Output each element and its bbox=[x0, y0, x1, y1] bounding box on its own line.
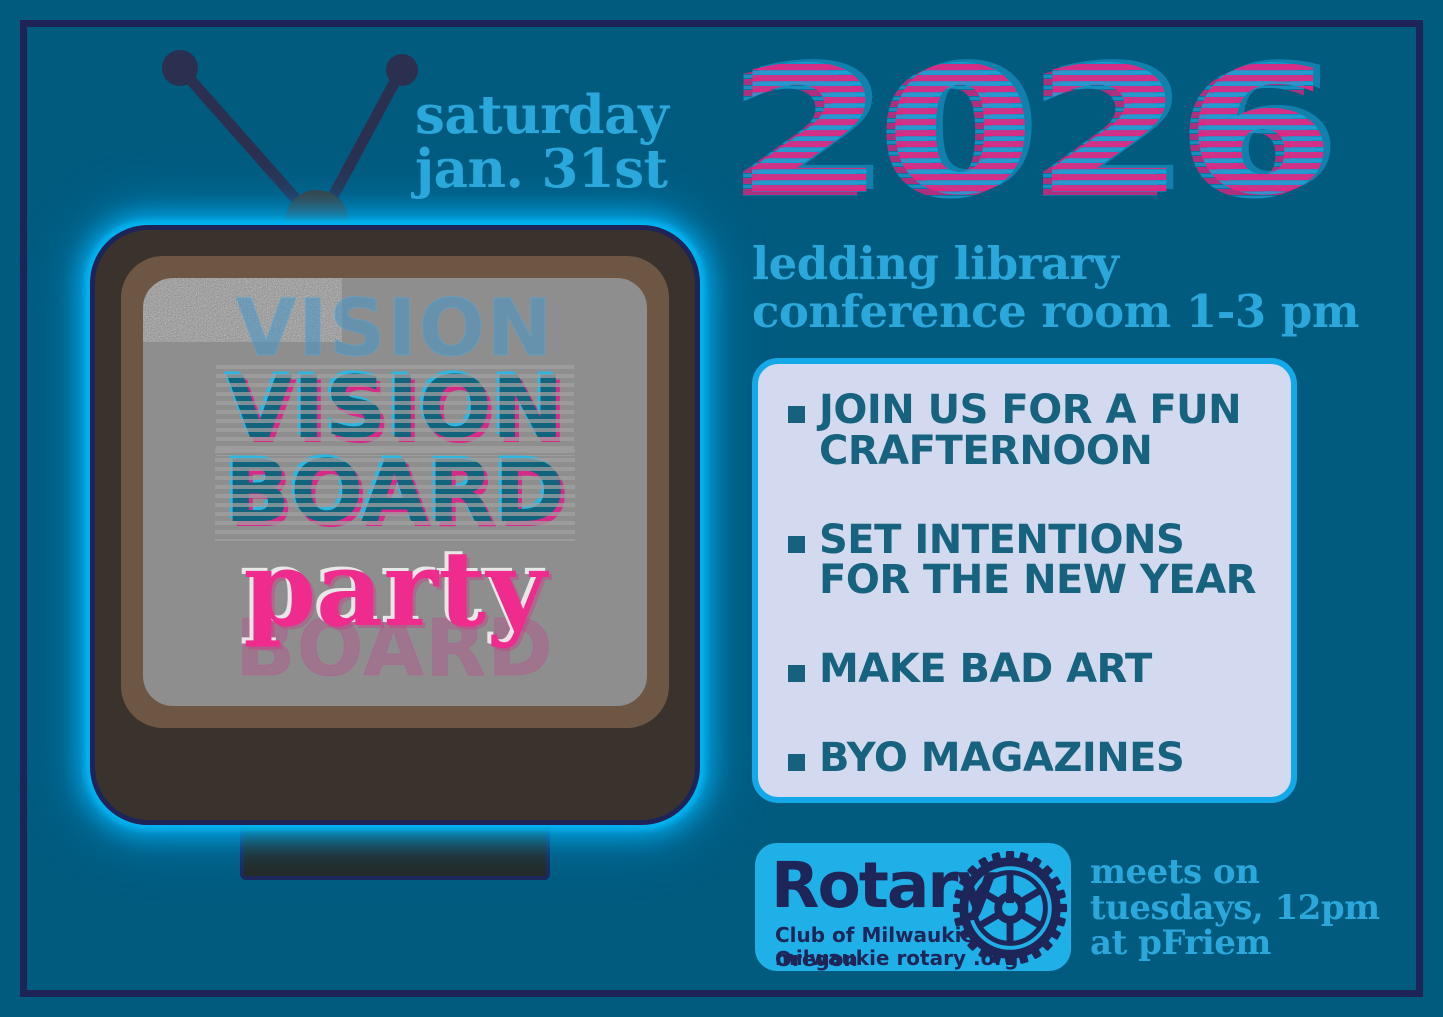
square-bullet-icon bbox=[788, 406, 805, 423]
poster-canvas: VISION BOARD VISION BOARD party saturday… bbox=[0, 0, 1443, 1017]
meeting-line3: at pFriem bbox=[1090, 926, 1380, 962]
square-bullet-icon bbox=[788, 536, 805, 553]
ghost-text-vision: VISION bbox=[236, 292, 554, 366]
meeting-info: meets on tuesdays, 12pm at pFriem bbox=[1090, 855, 1380, 962]
venue-info: ledding library conference room 1-3 pm bbox=[752, 240, 1359, 335]
board-glitch-text: BOARD bbox=[225, 450, 566, 534]
square-bullet-icon bbox=[788, 754, 805, 771]
tv-inner-bezel: VISION BOARD VISION BOARD party bbox=[121, 256, 669, 728]
info-card: JOIN US FOR A FUN CRAFTERNOON SET INTENT… bbox=[752, 358, 1297, 803]
bullet-label-3: BYO MAGAZINES bbox=[819, 738, 1184, 779]
list-item: SET INTENTIONS FOR THE NEW YEAR bbox=[788, 520, 1269, 602]
tv-body: VISION BOARD VISION BOARD party bbox=[90, 225, 700, 825]
venue-line1: ledding library bbox=[752, 240, 1359, 288]
party-script-text: party bbox=[243, 537, 546, 641]
list-item: MAKE BAD ART bbox=[788, 649, 1269, 690]
meeting-line1: meets on bbox=[1090, 855, 1380, 891]
bullet-label-0: JOIN US FOR A FUN CRAFTERNOON bbox=[819, 390, 1269, 472]
bullet-label-2: MAKE BAD ART bbox=[819, 649, 1152, 690]
year-2026-glitch: 2026 bbox=[725, 42, 1345, 227]
event-date: saturday jan. 31st bbox=[415, 88, 668, 196]
square-bullet-icon bbox=[788, 665, 805, 682]
vision-glitch-text: VISION bbox=[226, 366, 564, 450]
meeting-line2: tuesdays, 12pm bbox=[1090, 891, 1380, 927]
venue-line2: conference room 1-3 pm bbox=[752, 288, 1359, 336]
bullet-label-1: SET INTENTIONS FOR THE NEW YEAR bbox=[819, 520, 1269, 602]
event-date-line1: saturday bbox=[415, 88, 668, 142]
event-date-line2: jan. 31st bbox=[415, 142, 668, 196]
rotary-logo: Rotary Club of Milwaukie, Oregon milwauk… bbox=[755, 843, 1071, 971]
year-2026-svg: 2026 bbox=[725, 42, 1345, 227]
tv-screen: VISION BOARD VISION BOARD party bbox=[143, 278, 647, 706]
list-item: JOIN US FOR A FUN CRAFTERNOON bbox=[788, 390, 1269, 472]
tv-screen-text: VISION BOARD VISION BOARD party bbox=[143, 278, 647, 706]
rotary-gear-wheel-icon bbox=[951, 849, 1069, 967]
list-item: BYO MAGAZINES bbox=[788, 738, 1269, 779]
